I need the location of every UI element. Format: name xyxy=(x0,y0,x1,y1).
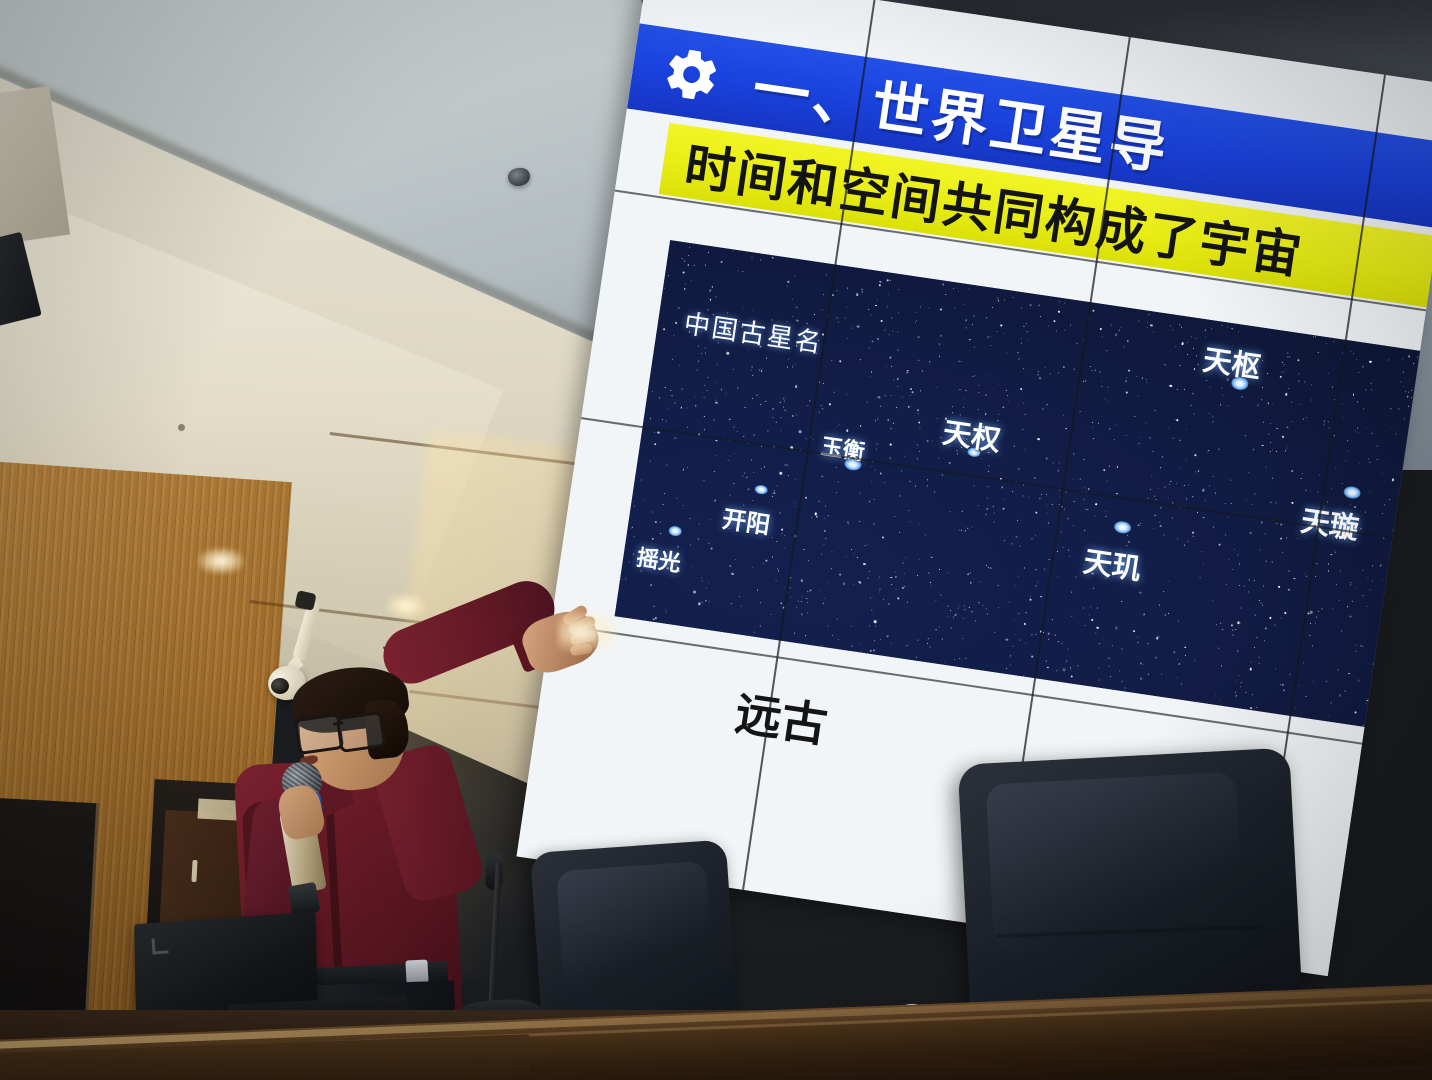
background-star xyxy=(1408,481,1409,482)
background-star xyxy=(1139,523,1140,524)
background-star xyxy=(958,361,959,362)
background-star xyxy=(720,261,723,264)
background-star xyxy=(780,430,781,431)
background-star xyxy=(1298,380,1299,381)
background-star xyxy=(1109,465,1110,466)
background-star xyxy=(1175,346,1176,347)
background-star xyxy=(684,288,686,290)
background-star xyxy=(1282,552,1283,553)
background-star xyxy=(1357,431,1358,432)
background-star xyxy=(1113,439,1114,440)
background-star xyxy=(634,506,635,507)
background-star xyxy=(1267,372,1268,373)
background-star xyxy=(1291,421,1292,422)
background-star xyxy=(1125,435,1126,436)
background-star xyxy=(1208,450,1209,451)
background-star xyxy=(1099,667,1101,669)
background-star xyxy=(890,444,892,446)
background-star xyxy=(1304,573,1305,574)
background-star xyxy=(1058,490,1059,491)
background-star xyxy=(897,597,899,599)
background-star xyxy=(1062,365,1065,368)
background-star xyxy=(783,587,784,588)
background-star xyxy=(1085,508,1086,509)
background-star xyxy=(1241,682,1242,683)
background-star xyxy=(704,429,705,430)
background-star xyxy=(1350,351,1351,352)
background-star xyxy=(1023,428,1024,429)
background-star xyxy=(1177,389,1178,390)
background-star xyxy=(1102,337,1103,338)
background-star xyxy=(1254,493,1255,494)
background-star xyxy=(1154,409,1155,410)
background-star xyxy=(742,475,743,476)
background-star xyxy=(1055,330,1057,332)
background-star xyxy=(1378,699,1379,700)
background-star xyxy=(666,420,667,421)
background-star xyxy=(904,455,905,456)
background-star xyxy=(1212,476,1213,477)
background-star xyxy=(1053,463,1054,464)
background-star xyxy=(958,609,959,610)
background-star xyxy=(1195,471,1196,472)
background-star xyxy=(1365,389,1367,391)
background-star xyxy=(880,576,881,577)
background-star xyxy=(1061,643,1062,644)
background-star xyxy=(973,485,974,486)
background-star xyxy=(770,614,771,615)
background-star xyxy=(1272,403,1273,404)
background-star xyxy=(829,403,831,405)
background-star xyxy=(794,502,795,503)
background-star xyxy=(1304,381,1305,382)
background-star xyxy=(813,439,814,440)
background-star xyxy=(753,472,754,473)
background-star xyxy=(919,559,920,560)
background-star xyxy=(1341,630,1342,631)
background-star xyxy=(1038,305,1039,306)
background-star xyxy=(1323,424,1325,426)
background-star xyxy=(760,260,761,261)
background-star xyxy=(653,606,654,607)
background-star xyxy=(895,576,897,578)
background-star xyxy=(699,524,700,525)
background-star xyxy=(1328,570,1330,572)
background-star xyxy=(970,572,971,573)
background-star xyxy=(1098,423,1099,424)
background-star xyxy=(1073,454,1074,455)
background-star xyxy=(1239,675,1240,676)
background-star xyxy=(870,650,872,652)
background-star xyxy=(1306,575,1307,576)
background-star xyxy=(984,394,987,397)
background-star xyxy=(1006,353,1007,354)
background-star xyxy=(886,366,887,367)
background-star xyxy=(1071,615,1073,617)
background-star xyxy=(1087,509,1088,510)
background-star xyxy=(1215,492,1217,494)
background-star xyxy=(650,418,651,419)
background-star xyxy=(1035,511,1038,514)
background-star xyxy=(687,427,688,428)
background-star xyxy=(1232,569,1233,570)
background-star xyxy=(1221,388,1222,389)
background-star xyxy=(1092,422,1093,423)
background-star xyxy=(1231,503,1232,504)
background-star xyxy=(792,299,793,300)
background-star xyxy=(694,265,695,266)
background-star xyxy=(1091,619,1093,621)
background-star xyxy=(951,627,952,628)
background-star xyxy=(1297,359,1300,362)
background-star xyxy=(737,387,738,388)
background-star xyxy=(1194,660,1195,661)
background-star xyxy=(1019,545,1021,547)
background-star xyxy=(1403,386,1404,387)
background-star xyxy=(947,605,948,606)
background-star xyxy=(730,321,731,322)
background-star xyxy=(1188,485,1189,486)
background-star xyxy=(1327,563,1329,565)
camera-lens-icon xyxy=(271,678,289,694)
background-star xyxy=(1362,646,1363,647)
camera-mount-top xyxy=(294,590,316,611)
background-star xyxy=(1211,328,1212,329)
background-star xyxy=(693,591,696,594)
star-label: 摇光 xyxy=(635,540,683,578)
background-star xyxy=(810,400,811,401)
background-star xyxy=(1411,390,1412,391)
background-star xyxy=(703,416,704,417)
background-star xyxy=(1012,297,1013,298)
background-star xyxy=(1013,645,1014,646)
background-star xyxy=(885,330,886,331)
background-star xyxy=(1363,408,1364,409)
background-star xyxy=(1220,622,1221,623)
background-star xyxy=(1310,611,1313,614)
background-star xyxy=(753,321,755,323)
background-star xyxy=(1093,427,1094,428)
background-star xyxy=(1401,504,1403,506)
background-star xyxy=(964,605,965,606)
background-star xyxy=(828,626,829,627)
background-star xyxy=(1285,393,1288,396)
background-star xyxy=(1317,352,1318,353)
background-star xyxy=(1069,555,1070,556)
background-star xyxy=(1036,585,1037,586)
background-star xyxy=(1357,427,1358,428)
background-star xyxy=(791,366,792,367)
background-star xyxy=(687,264,689,266)
background-star xyxy=(914,322,915,323)
background-star xyxy=(1261,523,1262,524)
background-star xyxy=(729,419,731,421)
background-star xyxy=(1013,446,1014,447)
background-star xyxy=(1178,663,1180,665)
background-star xyxy=(1017,575,1018,576)
background-star xyxy=(701,577,703,579)
background-star xyxy=(805,497,807,499)
background-star xyxy=(1245,692,1246,693)
background-star xyxy=(810,349,811,350)
background-star xyxy=(1184,485,1185,486)
background-star xyxy=(1072,479,1073,480)
background-star xyxy=(888,603,890,605)
background-star xyxy=(904,586,905,587)
background-star xyxy=(1399,614,1400,615)
background-star xyxy=(1347,441,1348,442)
background-star xyxy=(860,643,862,645)
background-star xyxy=(761,467,762,468)
background-star xyxy=(1008,602,1009,603)
background-star xyxy=(868,309,869,310)
background-star xyxy=(987,486,989,488)
background-star xyxy=(788,358,789,359)
door-opening[interactable] xyxy=(0,797,99,1043)
background-star xyxy=(682,469,684,471)
background-star xyxy=(1368,458,1369,459)
background-star xyxy=(1012,490,1013,491)
background-star xyxy=(964,609,965,610)
background-star xyxy=(1049,559,1050,560)
background-star xyxy=(1224,503,1226,505)
background-star xyxy=(1168,497,1169,498)
background-star xyxy=(954,659,955,660)
background-star xyxy=(1300,478,1302,480)
background-star xyxy=(1247,591,1248,592)
background-star xyxy=(1177,539,1178,540)
background-star xyxy=(860,425,862,427)
background-star xyxy=(1262,604,1264,606)
background-star xyxy=(1049,373,1050,374)
background-star xyxy=(1331,488,1333,490)
background-star xyxy=(1121,648,1122,649)
background-star xyxy=(1353,353,1354,354)
background-star xyxy=(764,466,765,467)
background-star xyxy=(655,617,657,619)
background-star xyxy=(1333,341,1334,342)
background-star xyxy=(832,294,834,296)
background-star xyxy=(871,466,872,467)
background-star xyxy=(1124,687,1125,688)
background-star xyxy=(822,408,823,409)
background-star xyxy=(761,370,763,372)
background-star xyxy=(714,500,716,502)
background-star xyxy=(690,518,691,519)
background-star xyxy=(795,506,796,507)
background-star xyxy=(938,343,939,344)
background-star xyxy=(883,482,884,483)
background-star xyxy=(1158,488,1159,489)
background-star xyxy=(784,535,785,536)
background-star xyxy=(756,395,757,396)
background-star xyxy=(846,338,847,339)
background-star xyxy=(998,414,999,415)
background-star xyxy=(1285,612,1287,614)
background-star xyxy=(998,584,1000,586)
background-star xyxy=(1046,505,1047,506)
background-star xyxy=(1168,613,1169,614)
background-star xyxy=(631,527,632,528)
background-star xyxy=(859,492,860,493)
background-star xyxy=(1365,511,1366,512)
background-star xyxy=(975,375,976,376)
background-star xyxy=(1017,352,1018,353)
background-star xyxy=(1177,658,1179,660)
background-star xyxy=(1148,673,1149,674)
background-star xyxy=(1169,484,1170,485)
background-star xyxy=(836,425,837,426)
background-star xyxy=(783,397,785,399)
background-star xyxy=(866,544,867,545)
background-star xyxy=(621,579,622,580)
background-star xyxy=(1408,392,1409,393)
background-star xyxy=(1382,579,1384,581)
background-star xyxy=(691,565,692,566)
background-star xyxy=(1246,500,1248,502)
background-star xyxy=(711,548,713,550)
background-star xyxy=(878,396,881,399)
background-star xyxy=(1070,669,1072,671)
background-star xyxy=(1056,551,1057,552)
background-star xyxy=(908,406,910,408)
background-star xyxy=(779,472,782,475)
background-star xyxy=(1096,626,1099,629)
background-star xyxy=(666,464,668,466)
background-star xyxy=(1184,544,1186,546)
background-star xyxy=(898,289,899,290)
background-star xyxy=(950,511,951,512)
background-star xyxy=(1154,515,1156,517)
background-star xyxy=(695,396,696,397)
background-star xyxy=(771,556,772,557)
background-star xyxy=(787,285,788,286)
background-star xyxy=(1003,540,1004,541)
background-star xyxy=(1355,431,1356,432)
background-star xyxy=(1271,502,1272,503)
background-star xyxy=(1184,389,1185,390)
star-chart-caption: 中国古星名 xyxy=(682,303,826,360)
background-star xyxy=(1258,657,1259,658)
background-star xyxy=(917,458,919,460)
background-star xyxy=(1023,402,1024,403)
background-star xyxy=(1024,449,1025,450)
background-star xyxy=(1108,401,1109,402)
background-star xyxy=(751,257,752,258)
background-star xyxy=(1023,326,1024,327)
background-star xyxy=(705,587,706,588)
background-star xyxy=(1254,647,1255,648)
background-star xyxy=(1267,402,1269,404)
background-star xyxy=(1317,491,1318,492)
background-star xyxy=(878,284,881,287)
background-star xyxy=(1366,703,1367,704)
background-star xyxy=(1384,616,1385,617)
background-star xyxy=(1326,343,1327,344)
background-star xyxy=(1230,479,1232,481)
background-star xyxy=(733,483,735,485)
background-star xyxy=(726,393,727,394)
background-star xyxy=(781,533,782,534)
background-star xyxy=(929,582,930,583)
background-star xyxy=(891,584,892,585)
background-star xyxy=(1398,409,1399,410)
background-star xyxy=(644,500,645,501)
background-star xyxy=(1356,358,1357,359)
background-star xyxy=(1323,421,1324,422)
background-star xyxy=(715,382,716,383)
background-star xyxy=(827,581,828,582)
background-star xyxy=(1413,363,1414,364)
background-star xyxy=(1367,700,1369,702)
background-star xyxy=(1286,538,1287,539)
background-star xyxy=(831,568,832,569)
background-star xyxy=(1266,466,1267,467)
background-star xyxy=(1085,380,1086,381)
background-star xyxy=(1286,444,1287,445)
background-star xyxy=(927,485,929,487)
background-star xyxy=(1071,592,1072,593)
background-star xyxy=(1303,419,1304,420)
background-star xyxy=(702,580,703,581)
background-star xyxy=(655,521,657,523)
background-star xyxy=(1371,690,1372,691)
background-star xyxy=(1123,346,1124,347)
background-star xyxy=(1174,418,1175,419)
background-star xyxy=(821,405,822,406)
gear-icon xyxy=(659,42,725,108)
background-star xyxy=(1095,503,1097,505)
background-star xyxy=(633,553,635,555)
background-star xyxy=(1266,560,1267,561)
background-star xyxy=(689,247,690,248)
background-star xyxy=(800,601,801,602)
background-star xyxy=(662,419,663,420)
background-star xyxy=(1038,371,1039,372)
background-star xyxy=(1148,497,1149,498)
background-star xyxy=(1233,635,1234,636)
background-star xyxy=(1006,638,1009,641)
background-star xyxy=(1333,608,1334,609)
background-star xyxy=(1265,533,1266,534)
background-star xyxy=(1302,473,1303,474)
background-star xyxy=(1099,679,1100,680)
background-star xyxy=(708,543,709,544)
star-label: 天玑 xyxy=(1081,539,1145,589)
background-star xyxy=(824,518,825,519)
background-star xyxy=(869,501,870,502)
background-star xyxy=(1389,359,1390,360)
background-star xyxy=(997,383,998,384)
background-star xyxy=(1271,477,1272,478)
background-star xyxy=(1214,693,1215,694)
background-star xyxy=(772,496,773,497)
background-star xyxy=(665,387,666,388)
background-star xyxy=(898,312,899,313)
background-star xyxy=(1258,663,1259,664)
background-star xyxy=(753,631,755,633)
background-star xyxy=(794,633,795,634)
background-star xyxy=(716,399,717,400)
background-star xyxy=(726,352,729,355)
background-star xyxy=(816,516,818,518)
background-star xyxy=(653,432,654,433)
background-star xyxy=(1391,427,1393,429)
background-star xyxy=(1065,428,1066,429)
background-star xyxy=(1008,402,1009,403)
background-star xyxy=(912,392,914,394)
background-star xyxy=(1408,356,1410,358)
